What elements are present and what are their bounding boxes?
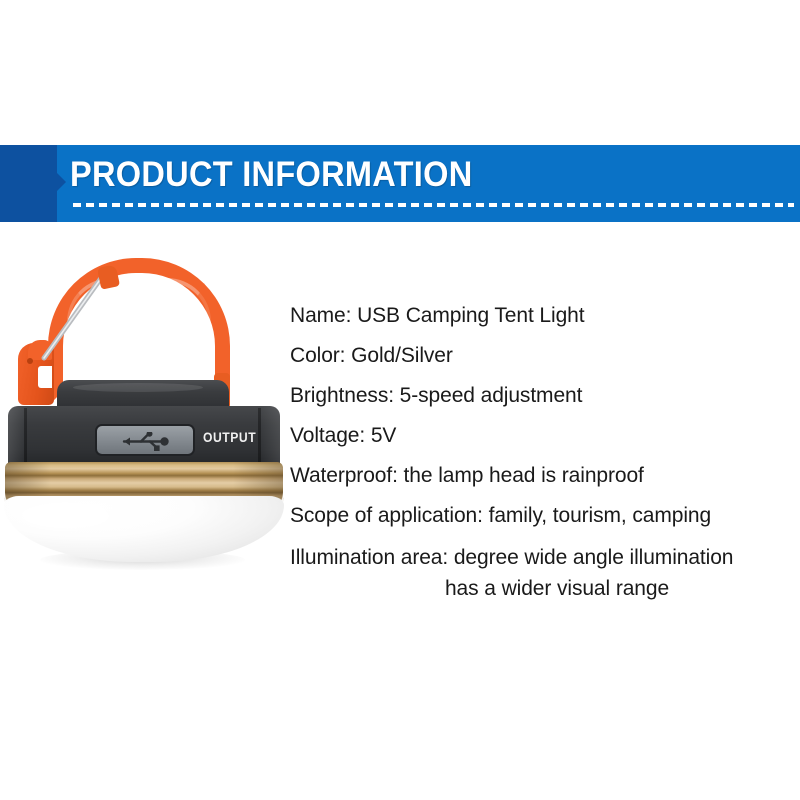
banner-accent-tab [0,145,57,222]
banner-dashed-divider [73,203,794,207]
product-photo: OUTPUT [0,248,290,578]
section-header-banner: PRODUCT INFORMATION [0,145,800,222]
banner-tab-notch-icon [57,173,66,191]
specification-list: Name: USB Camping Tent Light Color: Gold… [290,296,790,604]
lamp-seam-right [258,408,261,464]
usb-icon [119,432,173,451]
output-port-label: OUTPUT [203,430,256,445]
page-title: PRODUCT INFORMATION [70,153,473,197]
carabiner-clip-notch [38,366,52,388]
lamp-diffuser-dome [4,496,284,562]
spec-row-scope: Scope of application: family, tourism, c… [290,496,790,536]
carabiner-rivet [27,358,33,364]
spec-row-illumination-area: Illumination area: degree wide angle ill… [290,542,790,604]
spec-illumination-line2: has a wider visual range [290,573,790,604]
spec-row-name: Name: USB Camping Tent Light [290,296,790,336]
spec-row-waterproof: Waterproof: the lamp head is rainproof [290,456,790,496]
spec-illumination-line1: Illumination area: degree wide angle ill… [290,546,733,569]
spec-row-brightness: Brightness: 5-speed adjustment [290,376,790,416]
usb-port-cover [95,424,195,456]
spec-row-color: Color: Gold/Silver [290,336,790,376]
spec-row-voltage: Voltage: 5V [290,416,790,456]
product-information-page: PRODUCT INFORMATION [0,0,800,800]
lamp-seam-left [24,408,27,464]
